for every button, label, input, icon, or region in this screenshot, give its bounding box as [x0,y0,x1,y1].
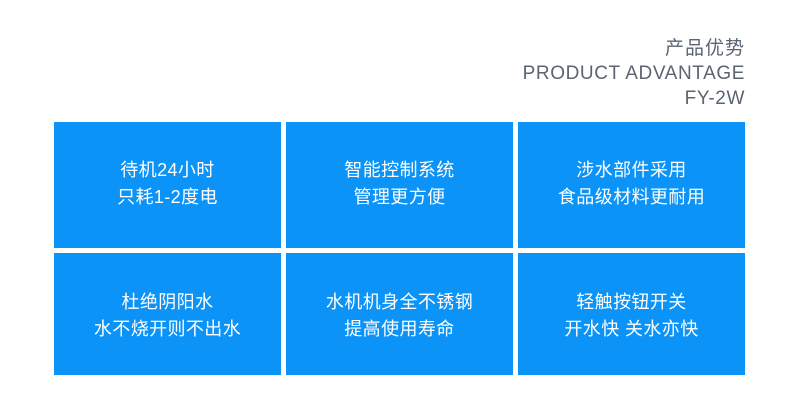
feature-line-3b: 食品级材料更耐用 [558,184,705,211]
feature-line-2a: 智能控制系统 [344,157,454,184]
feature-text-4: 杜绝阴阳水 水不烧开则不出水 [94,289,241,343]
feature-line-5b: 提高使用寿命 [326,316,473,343]
poster-header: 产品优势 PRODUCT ADVANTAGE FY-2W [300,36,745,111]
feature-line-2b: 管理更方便 [344,184,454,211]
feature-line-1a: 待机24小时 [117,157,218,184]
feature-line-4a: 杜绝阴阳水 [94,289,241,316]
page-title-cn: 产品优势 [300,36,745,61]
feature-text-3: 涉水部件采用 食品级材料更耐用 [558,157,705,211]
feature-tile-4: 杜绝阴阳水 水不烧开则不出水 [54,253,281,375]
product-model-label: FY-2W [300,86,745,111]
feature-grid: 待机24小时 只耗1-2度电 智能控制系统 管理更方便 涉水部件采用 食品级材料… [54,122,745,375]
feature-tile-3: 涉水部件采用 食品级材料更耐用 [518,122,745,248]
product-advantage-poster: 产品优势 PRODUCT ADVANTAGE FY-2W 待机24小时 只耗1-… [0,0,800,406]
feature-text-1: 待机24小时 只耗1-2度电 [117,157,218,211]
feature-line-6b: 开水快 关水亦快 [564,316,698,343]
feature-tile-2: 智能控制系统 管理更方便 [286,122,513,248]
feature-tile-1: 待机24小时 只耗1-2度电 [54,122,281,248]
feature-line-1b: 只耗1-2度电 [117,184,218,211]
feature-tile-5: 水机机身全不锈钢 提高使用寿命 [286,253,513,375]
feature-line-4b: 水不烧开则不出水 [94,316,241,343]
feature-text-2: 智能控制系统 管理更方便 [344,157,454,211]
feature-text-6: 轻触按钮开关 开水快 关水亦快 [564,289,698,343]
page-title-en: PRODUCT ADVANTAGE [300,61,745,86]
feature-text-5: 水机机身全不锈钢 提高使用寿命 [326,289,473,343]
feature-line-5a: 水机机身全不锈钢 [326,289,473,316]
feature-tile-6: 轻触按钮开关 开水快 关水亦快 [518,253,745,375]
feature-line-6a: 轻触按钮开关 [564,289,698,316]
feature-line-3a: 涉水部件采用 [558,157,705,184]
